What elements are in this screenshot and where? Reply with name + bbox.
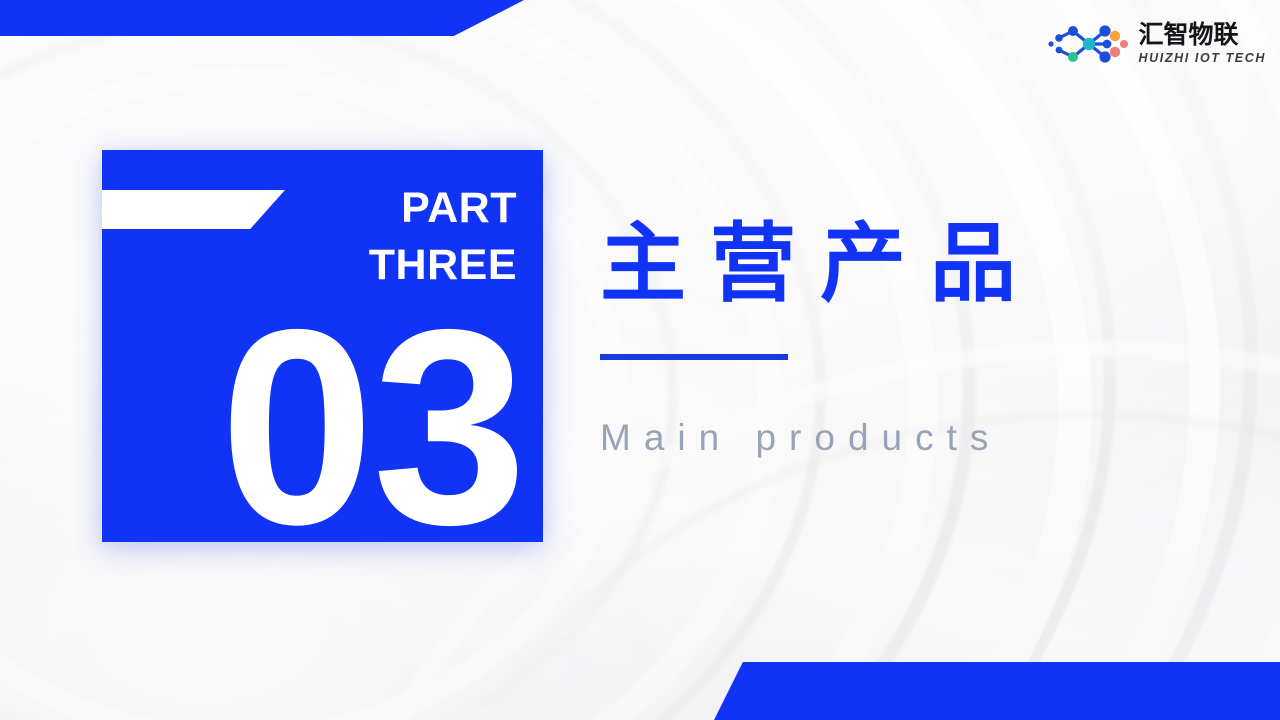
section-title-chinese: 主营产品: [600, 212, 1240, 316]
logo-name-chinese: 汇智物联: [1139, 23, 1266, 48]
presentation-slide: PART THREE 03 主营产品 Main products: [0, 0, 1280, 720]
section-number: 03: [220, 288, 525, 566]
molecule-network-icon: [1045, 22, 1131, 66]
section-number-panel: PART THREE 03: [102, 150, 543, 542]
bottom-right-accent-strip: [714, 662, 1280, 720]
company-logo: 汇智物联 HUIZHI IOT TECH: [1045, 22, 1266, 66]
title-underline-rule: [600, 354, 788, 360]
section-subtitle-english: Main products: [600, 416, 1240, 460]
top-left-accent-strip: [0, 0, 524, 36]
white-accent-bar: [102, 190, 285, 229]
section-title-block: 主营产品 Main products: [600, 212, 1240, 460]
part-label-line1: PART: [369, 180, 517, 237]
logo-wordmark: 汇智物联 HUIZHI IOT TECH: [1139, 23, 1266, 65]
logo-name-english: HUIZHI IOT TECH: [1139, 52, 1266, 65]
